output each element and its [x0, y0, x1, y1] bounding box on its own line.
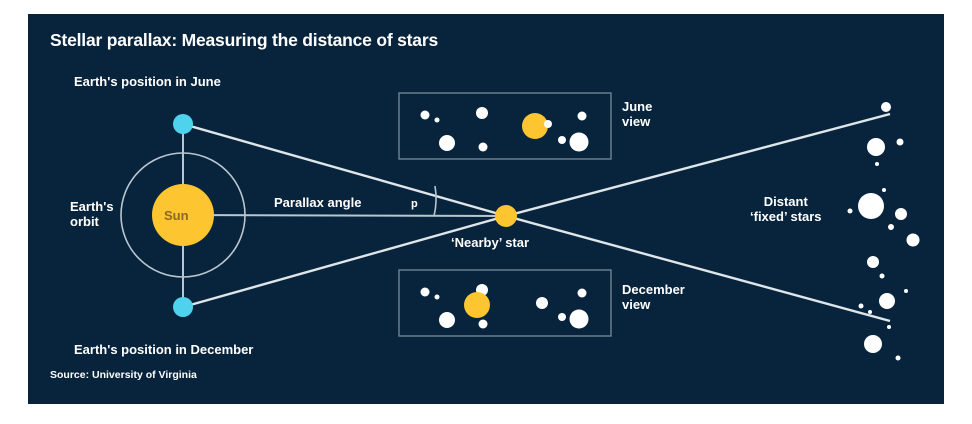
june-view-star-7	[578, 112, 587, 121]
distant-star-5	[858, 193, 884, 219]
june-view-starfield	[421, 107, 589, 152]
december-view-star-1	[435, 295, 440, 300]
distant-star-field	[848, 102, 920, 361]
distant-star-8	[888, 224, 894, 230]
distant-star-7	[895, 208, 907, 220]
december-view-star-5	[464, 292, 490, 318]
distant-star-9	[907, 234, 920, 247]
distant-stars-label: Distant ‘fixed’ stars	[750, 194, 822, 224]
distant-star-13	[879, 293, 895, 309]
june-view-star-3	[439, 135, 455, 151]
distant-star-11	[880, 274, 885, 279]
distant-star-14	[859, 304, 864, 309]
december-view-starfield	[421, 284, 589, 329]
june-view-star-0	[421, 111, 430, 120]
distant-star-3	[875, 162, 879, 166]
june-view-star-8	[558, 136, 566, 144]
distant-star-15	[868, 310, 872, 314]
earth-december-dot	[173, 297, 193, 317]
parallax-angle-arc	[434, 186, 436, 216]
december-sightline-inner	[183, 216, 506, 307]
distant-star-18	[896, 356, 901, 361]
june-view-star-4	[479, 143, 488, 152]
june-view-star-5	[522, 113, 548, 139]
december-sightline-outer	[506, 216, 890, 321]
infographic-panel: Stellar parallax: Measuring the distance…	[28, 14, 944, 404]
earth-december-label: Earth's position in December	[74, 342, 253, 357]
june-view-star-6	[544, 120, 552, 128]
december-view-star-8	[558, 313, 566, 321]
distant-star-16	[887, 325, 891, 329]
december-view-star-4	[479, 320, 488, 329]
december-view-star-9	[570, 310, 589, 329]
distant-star-0	[881, 102, 891, 112]
earth-orbit-label: Earth's orbit	[70, 199, 114, 229]
nearby-star-label: ‘Nearby’ star	[451, 235, 529, 250]
nearby-star-dot	[495, 205, 517, 227]
distant-star-10	[867, 256, 879, 268]
earth-june-dot	[173, 114, 193, 134]
december-view-star-0	[421, 288, 430, 297]
distant-star-12	[904, 289, 908, 293]
december-view-star-6	[536, 297, 548, 309]
distant-star-4	[882, 188, 886, 192]
earth-june-label: Earth's position in June	[74, 74, 221, 89]
june-view-star-2	[476, 107, 488, 119]
june-view-star-9	[570, 133, 589, 152]
distant-star-2	[897, 139, 904, 146]
source-credit: Source: University of Virginia	[50, 369, 197, 381]
sun-label: Sun	[164, 208, 189, 223]
december-view-star-3	[439, 312, 455, 328]
december-view-label: December view	[622, 282, 685, 312]
december-view-star-7	[578, 289, 587, 298]
parallax-angle-label: Parallax angle	[274, 195, 361, 210]
june-view-label: June view	[622, 99, 652, 129]
parallax-symbol-label: p	[411, 198, 418, 210]
distant-star-1	[867, 138, 885, 156]
june-sightline-outer	[506, 114, 890, 216]
distant-star-6	[848, 209, 853, 214]
june-view-star-1	[435, 118, 440, 123]
distant-star-17	[864, 335, 882, 353]
sun-star-axis-line	[183, 215, 506, 216]
